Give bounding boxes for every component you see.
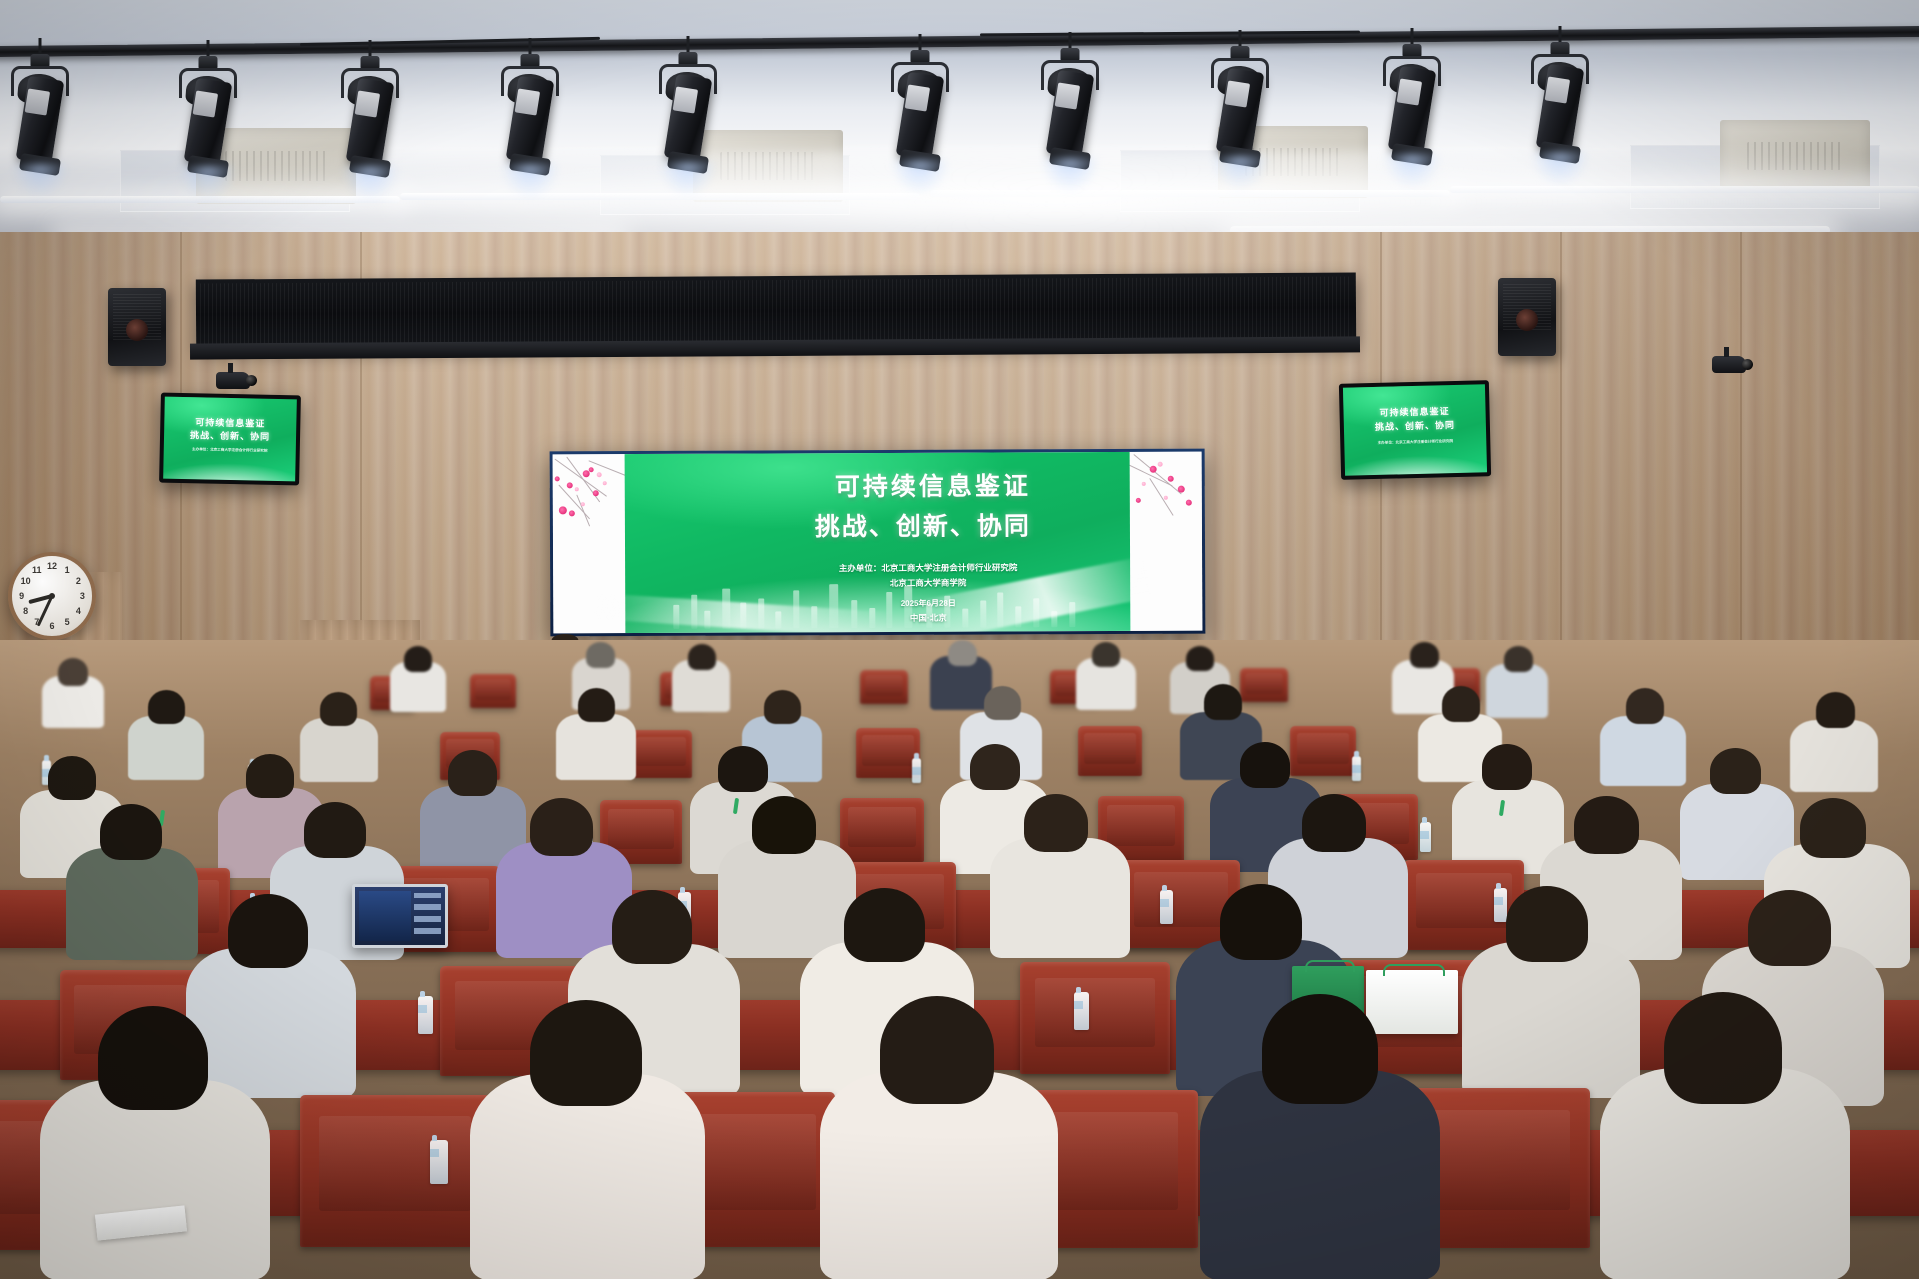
chair[interactable] xyxy=(470,674,516,708)
screen-right-decor-panel xyxy=(1130,452,1203,631)
chair[interactable] xyxy=(1290,726,1356,776)
attendee-hair xyxy=(1262,994,1378,1104)
water-bottle[interactable] xyxy=(1494,888,1507,922)
attendee-hair xyxy=(948,640,977,666)
clock-number: 8 xyxy=(23,606,28,616)
clock-number: 4 xyxy=(76,606,81,616)
attendee-hair xyxy=(688,644,716,670)
attendee xyxy=(1486,664,1548,718)
monitor-title-secondary: 挑战、创新、协同 xyxy=(164,428,296,444)
attendee-hair xyxy=(880,996,994,1104)
wall-speaker xyxy=(1498,278,1556,356)
clock-number: 9 xyxy=(19,591,24,601)
attendee-hair xyxy=(1626,688,1664,724)
attendee xyxy=(186,948,356,1098)
laptop[interactable] xyxy=(352,884,448,948)
chair[interactable] xyxy=(860,670,908,704)
screen-title-primary: 可持续信息鉴证 xyxy=(756,466,1110,504)
chair[interactable] xyxy=(856,728,920,778)
chair[interactable] xyxy=(840,798,924,862)
attendee-hair xyxy=(1710,748,1761,794)
wall-speaker xyxy=(108,288,166,366)
attendee-hair xyxy=(304,802,366,858)
video-camera xyxy=(216,372,250,389)
clock-number: 11 xyxy=(32,565,42,575)
attendee-hair xyxy=(530,1000,642,1106)
chair[interactable] xyxy=(630,730,692,778)
attendee xyxy=(1600,716,1686,786)
attendee-hair xyxy=(752,796,816,854)
attendee-hair xyxy=(1506,886,1588,962)
water-bottle[interactable] xyxy=(1420,822,1431,852)
attendee xyxy=(990,838,1130,958)
auditorium-scene: 12 1 2 3 4 5 6 7 8 9 10 11 xyxy=(0,0,1919,1279)
monitor-title-secondary: 挑战、创新、协同 xyxy=(1344,418,1486,434)
chair[interactable] xyxy=(1078,726,1142,776)
clock-center-pin xyxy=(49,593,55,599)
attendee-hair xyxy=(530,798,593,856)
attendee xyxy=(556,714,636,780)
clock-number: 5 xyxy=(65,617,70,627)
attendee-hair xyxy=(718,746,768,792)
attendee-hair xyxy=(1302,794,1366,852)
attendee-hair xyxy=(100,804,162,860)
attendee-hair xyxy=(1482,744,1532,790)
attendee-hair xyxy=(1504,646,1533,672)
attendee-hair xyxy=(1800,798,1866,858)
attendee-hair xyxy=(578,688,615,722)
wall-clock: 12 1 2 3 4 5 6 7 8 9 10 11 xyxy=(8,552,96,640)
attendee-hair xyxy=(320,692,357,726)
attendee-hair xyxy=(48,756,96,800)
attendee-hair xyxy=(1574,796,1639,854)
attendee-hair xyxy=(98,1006,208,1110)
attendee xyxy=(1462,942,1640,1098)
chair[interactable] xyxy=(1240,668,1288,702)
clock-number: 12 xyxy=(47,561,57,571)
attendee-hair xyxy=(1664,992,1782,1104)
clock-number: 2 xyxy=(76,576,81,586)
paper-bag[interactable] xyxy=(1366,970,1458,1034)
attendee-hair xyxy=(404,646,432,672)
attendee-hair xyxy=(228,894,308,968)
attendee-hair xyxy=(1240,742,1290,788)
clock-number: 1 xyxy=(65,565,70,575)
attendee-hair xyxy=(970,744,1020,790)
attendee xyxy=(1790,720,1878,792)
main-presentation-screen[interactable]: 可持续信息鉴证 挑战、创新、协同 主办单位：北京工商大学注册会计师行业研究院 北… xyxy=(550,449,1206,637)
video-camera xyxy=(1712,356,1746,373)
attendee xyxy=(66,848,198,960)
clock-number: 10 xyxy=(21,576,31,586)
attendee-hair xyxy=(1442,686,1480,722)
attendee-hair xyxy=(1024,794,1088,852)
water-bottle[interactable] xyxy=(1074,992,1089,1030)
clock-number: 6 xyxy=(49,621,54,631)
attendee-hair xyxy=(246,754,294,798)
chair[interactable] xyxy=(1020,962,1170,1074)
attendee-hair xyxy=(1816,692,1855,728)
water-bottle[interactable] xyxy=(418,996,433,1034)
attendee-hair xyxy=(844,888,925,962)
screen-title-secondary: 挑战、创新、协同 xyxy=(736,506,1110,544)
water-bottle[interactable] xyxy=(912,758,921,783)
attendee-hair xyxy=(612,890,692,964)
audience-area xyxy=(0,640,1919,1279)
attendee-hair xyxy=(586,642,615,668)
attendee-hair xyxy=(1204,684,1242,720)
attendee xyxy=(300,718,378,782)
attendee xyxy=(718,840,856,958)
side-monitor-left[interactable]: 可持续信息鉴证 挑战、创新、协同 主办单位：北京工商大学注册会计师行业研究院 xyxy=(159,393,301,486)
attendee-hair xyxy=(148,690,185,724)
side-monitor-right[interactable]: 可持续信息鉴证 挑战、创新、协同 主办单位：北京工商大学注册会计师行业研究院 xyxy=(1339,380,1491,480)
attendee-hair xyxy=(1186,646,1214,671)
attendee-hair xyxy=(764,690,801,724)
attendee-hair xyxy=(1092,642,1120,667)
screen-content-area: 可持续信息鉴证 挑战、创新、协同 主办单位：北京工商大学注册会计师行业研究院 北… xyxy=(625,452,1131,633)
attendee-hair xyxy=(1410,642,1439,668)
chair[interactable] xyxy=(300,1095,490,1247)
water-bottle[interactable] xyxy=(430,1140,448,1184)
water-bottle[interactable] xyxy=(1160,890,1173,924)
attendee-hair xyxy=(448,750,497,796)
attendee xyxy=(128,716,204,780)
clock-number: 3 xyxy=(80,591,85,601)
attendee-hair xyxy=(1220,884,1302,960)
attendee-hair xyxy=(1748,890,1831,966)
attendee-hair xyxy=(984,686,1021,720)
attendee-hair xyxy=(58,658,88,686)
water-bottle[interactable] xyxy=(1352,756,1361,781)
